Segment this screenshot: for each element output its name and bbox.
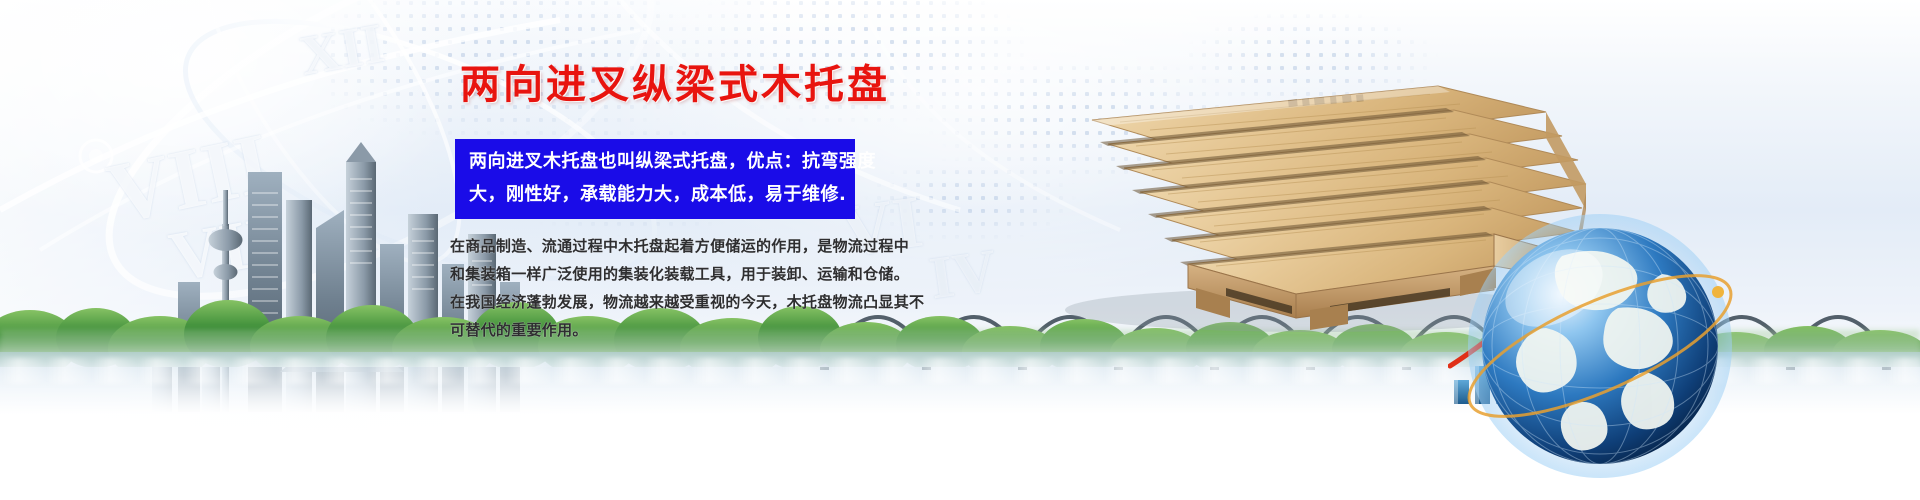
roman-numeral-decoration: XII <box>295 11 389 89</box>
body-paragraph-line: 和集装箱一样广泛使用的集装化装载工具，用于装卸、运输和仓储。 <box>450 260 910 288</box>
highlight-line-2: 大，刚性好，承载能力大，成本低，易于维修. <box>469 178 845 211</box>
roman-numeral-decoration: VII <box>164 201 281 298</box>
banner-body-text: 在商品制造、流通过程中木托盘起着方便储运的作用，是物流过程中 和集装箱一样广泛使… <box>450 232 910 344</box>
arch-bridge-icon <box>820 255 1920 370</box>
body-paragraph-line: 在商品制造、流通过程中木托盘起着方便储运的作用，是物流过程中 <box>450 232 910 260</box>
highlight-callout-box: 两向进叉木托盘也叫纵梁式托盘，优点：抗弯强度 大，刚性好，承载能力大，成本低，易… <box>455 139 855 219</box>
blue-earth-globe <box>1450 196 1750 496</box>
product-banner: VIII VII VI IV XII <box>0 0 1920 500</box>
roman-numeral-decoration: IV <box>926 236 1002 314</box>
body-paragraph-line: 可替代的重要作用。 <box>450 316 910 344</box>
body-paragraph-line: 在我国经济蓬勃发展，物流越来越受重视的今天，木托盘物流凸显其不 <box>450 288 910 316</box>
banner-title: 两向进叉纵梁式木托盘 <box>460 52 890 110</box>
roman-numeral-decoration: VIII <box>99 112 279 244</box>
highlight-line-1: 两向进叉木托盘也叫纵梁式托盘，优点：抗弯强度 <box>469 145 845 178</box>
